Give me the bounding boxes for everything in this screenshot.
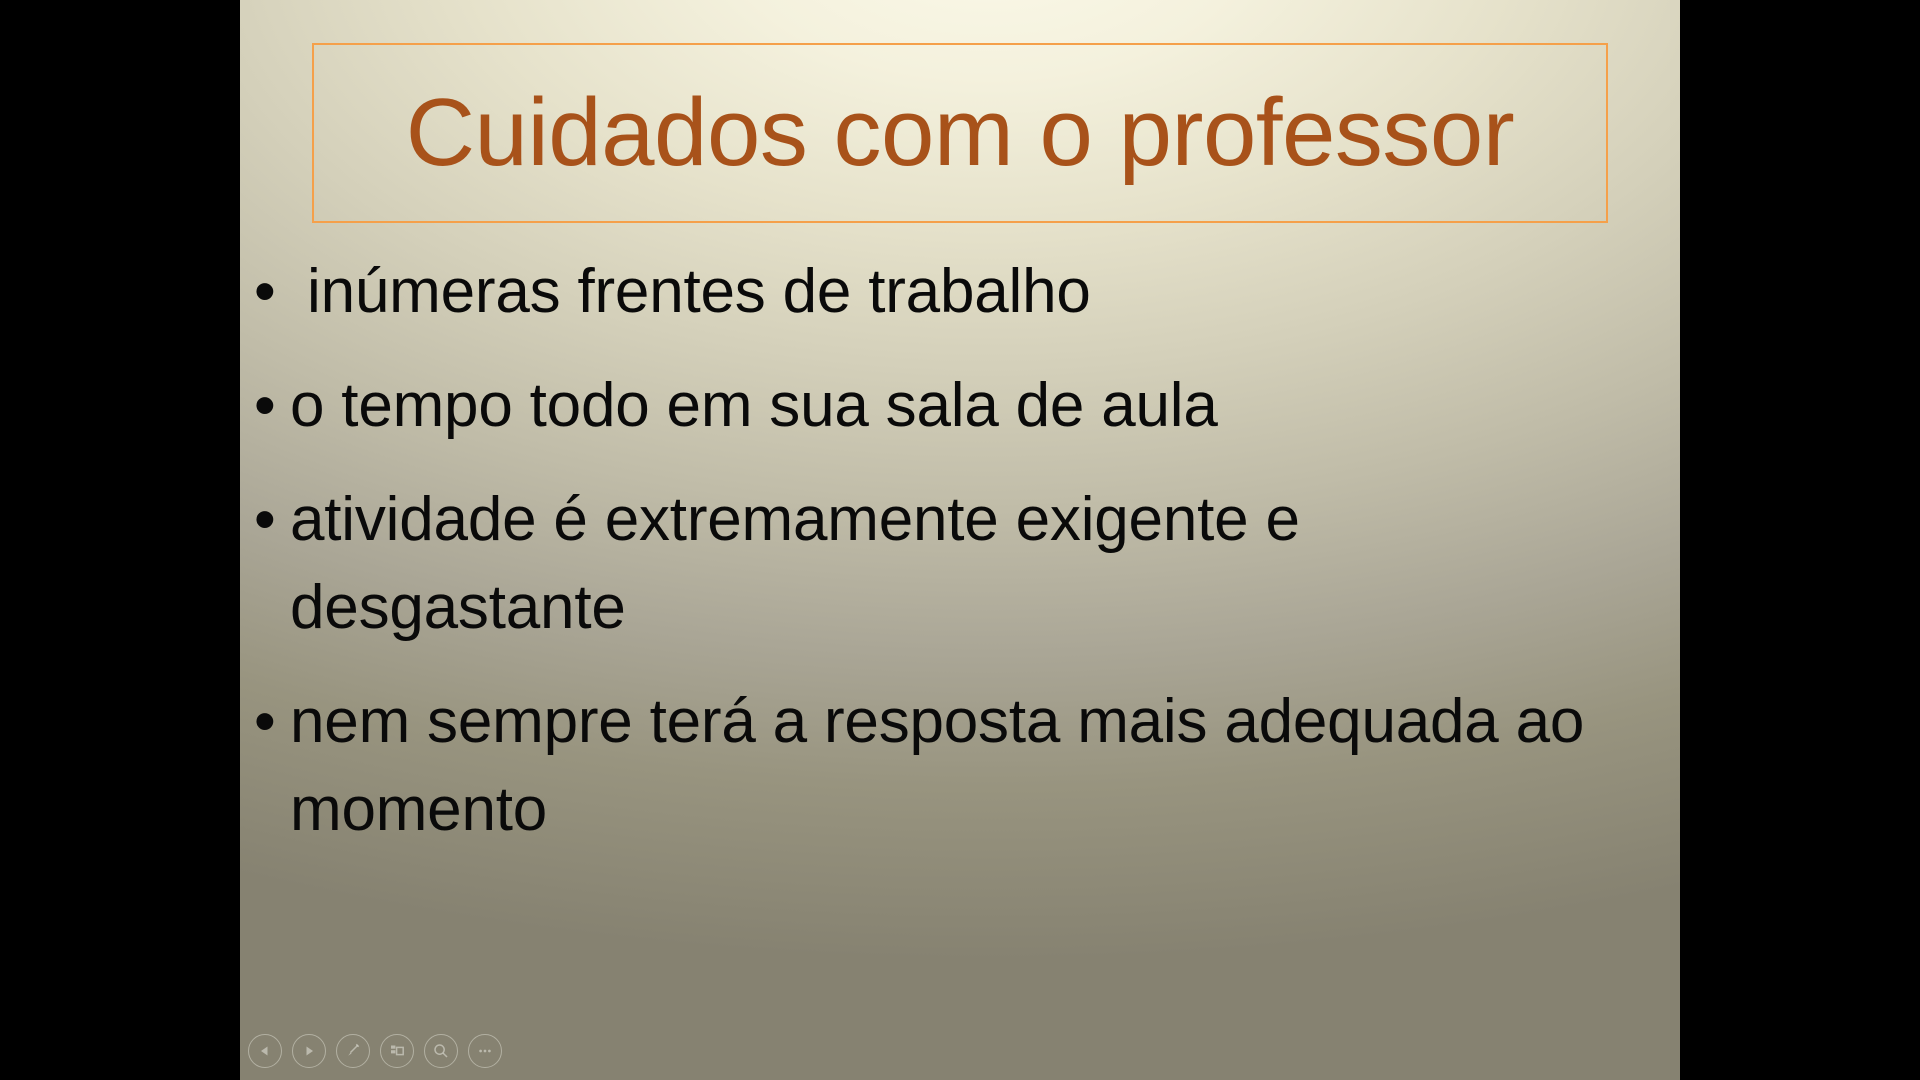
presentation-player: Cuidados com o professor • inúmeras fren… [0, 0, 1920, 1080]
list-item: • atividade é extremamente exigente e de… [240, 476, 1680, 652]
grid-icon [387, 1041, 407, 1061]
slide-canvas: Cuidados com o professor • inúmeras fren… [240, 0, 1680, 1080]
zoom-tool-button[interactable] [424, 1034, 458, 1068]
pen-tool-button[interactable] [336, 1034, 370, 1068]
list-item-label: atividade é extremamente exigente e desg… [290, 476, 1680, 652]
bullet-icon: • [254, 248, 290, 336]
list-item-label: nem sempre terá a resposta mais adequada… [290, 678, 1680, 854]
magnifier-icon [431, 1041, 451, 1061]
bullet-icon: • [254, 476, 290, 564]
pen-icon [343, 1041, 363, 1061]
more-options-button[interactable] [468, 1034, 502, 1068]
list-item: • inúmeras frentes de trabalho [240, 248, 1680, 336]
list-item: • nem sempre terá a resposta mais adequa… [240, 678, 1680, 854]
slide-title-box: Cuidados com o professor [312, 43, 1608, 223]
list-item-label: o tempo todo em sua sala de aula [290, 362, 1680, 450]
list-item: • o tempo todo em sua sala de aula [240, 362, 1680, 450]
bullet-icon: • [254, 678, 290, 766]
list-item-label: inúmeras frentes de trabalho [290, 248, 1680, 336]
next-slide-button[interactable] [292, 1034, 326, 1068]
slide-overview-button[interactable] [380, 1034, 414, 1068]
slide-body: • inúmeras frentes de trabalho • o tempo… [240, 248, 1680, 880]
previous-slide-button[interactable] [248, 1034, 282, 1068]
player-toolbar [248, 1034, 502, 1068]
bullet-icon: • [254, 362, 290, 450]
previous-icon [257, 1043, 273, 1059]
next-icon [301, 1043, 317, 1059]
ellipsis-icon [475, 1041, 495, 1061]
page-title: Cuidados com o professor [406, 83, 1515, 184]
